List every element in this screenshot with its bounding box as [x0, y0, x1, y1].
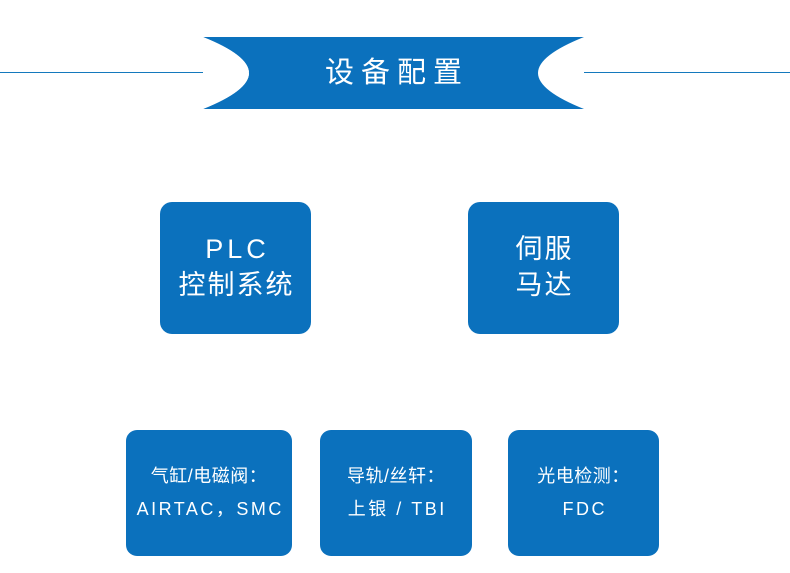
card-sensor-line-2: FDC	[560, 498, 607, 522]
card-cylinder-line-2: AIRTAC，SMC	[134, 498, 284, 522]
card-rail-line-2: 上银 / TBI	[345, 498, 447, 522]
ribbon-banner-shape	[203, 37, 584, 109]
card-cylinder-line-1: 气缸/电磁阀：	[151, 465, 268, 489]
card-rail-line-1: 导轨/丝轩：	[347, 465, 445, 489]
card-servo-motor[interactable]: 伺服 马达	[468, 202, 619, 334]
card-sensor-line-1: 光电检测：	[537, 465, 630, 489]
card-plc-control-system[interactable]: PLC 控制系统	[160, 202, 311, 334]
card-photoelectric-detection[interactable]: 光电检测： FDC	[508, 430, 659, 556]
card-servo-line-2: 马达	[514, 268, 574, 304]
equipment-configuration-page: 设备配置 PLC 控制系统 伺服 马达 气缸/电磁阀： AIRTAC，SMC 导…	[0, 0, 790, 573]
card-plc-line-2: 控制系统	[177, 268, 295, 304]
card-cylinder-solenoid-valve[interactable]: 气缸/电磁阀： AIRTAC，SMC	[126, 430, 292, 556]
card-plc-line-1: PLC	[201, 232, 270, 268]
header-section: 设备配置	[0, 0, 790, 130]
card-servo-line-1: 伺服	[514, 232, 574, 268]
card-guide-rail-screw[interactable]: 导轨/丝轩： 上银 / TBI	[320, 430, 472, 556]
